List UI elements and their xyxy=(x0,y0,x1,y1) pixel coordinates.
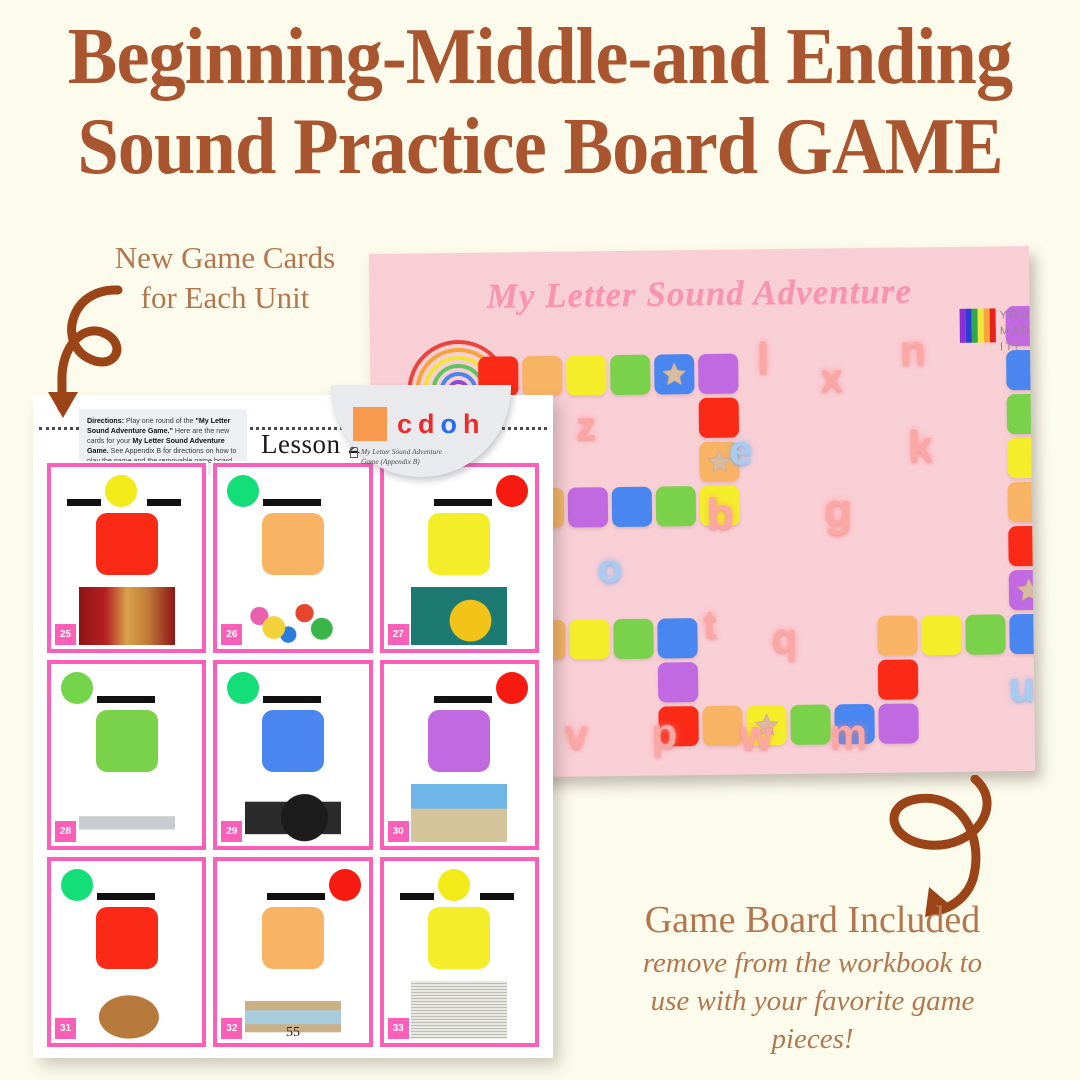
board-letter-z: z xyxy=(576,406,596,446)
board-tile[interactable] xyxy=(522,356,562,396)
color-square xyxy=(428,513,490,575)
game-card[interactable]: 3255 xyxy=(213,857,372,1047)
board-tile[interactable] xyxy=(568,487,608,527)
sound-dot xyxy=(61,672,93,704)
game-card[interactable]: 29 xyxy=(213,660,372,850)
board-letter-p: p xyxy=(651,712,677,754)
game-card[interactable]: 25 xyxy=(47,463,206,653)
orange-square-icon xyxy=(353,407,387,441)
color-square xyxy=(96,513,158,575)
board-tile[interactable] xyxy=(1009,614,1035,654)
game-board-title: My Letter Sound Adventure xyxy=(369,270,1029,318)
sound-position-indicator xyxy=(217,664,368,710)
board-tile[interactable] xyxy=(1007,394,1036,434)
sound-blank xyxy=(480,893,514,900)
sound-position-indicator xyxy=(51,467,202,513)
sound-blank xyxy=(434,696,492,703)
sound-dot xyxy=(329,869,361,901)
game-cards-grid: 25262728293031325533 xyxy=(47,463,539,1047)
card-number: 25 xyxy=(55,624,76,645)
game-card[interactable]: 26 xyxy=(213,463,372,653)
color-square xyxy=(428,710,490,772)
sound-blank xyxy=(97,696,155,703)
sound-position-indicator xyxy=(384,861,535,907)
board-letter-o: o xyxy=(597,549,622,589)
board-tile[interactable] xyxy=(610,355,650,395)
board-tile[interactable] xyxy=(656,486,696,526)
badge-subtitle-line-1: My Letter Sound Adventure xyxy=(361,447,501,457)
game-card[interactable]: 28 xyxy=(47,660,206,850)
color-square xyxy=(262,513,324,575)
child-headphones-photo xyxy=(411,587,507,645)
badge-letters: cdoh xyxy=(397,409,486,440)
sound-dot xyxy=(438,869,470,901)
board-tile[interactable] xyxy=(612,487,652,527)
annotation-right-line-1: remove from the workbook to xyxy=(585,946,1040,980)
annotation-right-heading: Game Board Included xyxy=(585,900,1040,942)
clipboard-icon xyxy=(350,447,358,458)
card-number: 26 xyxy=(221,624,242,645)
game-card[interactable]: 27 xyxy=(380,463,539,653)
board-tile[interactable] xyxy=(657,618,697,658)
color-square xyxy=(262,907,324,969)
badge-letter-c: c xyxy=(397,409,418,439)
board-tile[interactable] xyxy=(877,615,917,655)
sound-position-indicator xyxy=(217,861,368,907)
worksheet-page[interactable]: Directions: Play one round of the "My Le… xyxy=(33,395,553,1058)
board-letter-x: x xyxy=(820,358,843,398)
sound-dot xyxy=(496,475,528,507)
game-card[interactable]: 30 xyxy=(380,660,539,850)
board-letter-m: m xyxy=(829,713,867,755)
board-tile[interactable] xyxy=(790,704,830,744)
board-letter-n: n xyxy=(900,329,926,371)
sound-dot xyxy=(105,475,137,507)
annotation-new-game-cards: New Game Cards for Each Unit xyxy=(80,238,370,317)
sound-dot xyxy=(496,672,528,704)
sound-blank xyxy=(267,893,325,900)
finish-label-line-3: IT! xyxy=(1000,340,1035,356)
game-card[interactable]: 33 xyxy=(380,857,539,1047)
board-tile[interactable] xyxy=(566,355,606,395)
board-tile[interactable] xyxy=(965,614,1005,654)
board-letter-e: e xyxy=(729,429,753,471)
badge-letter-o: o xyxy=(441,409,464,439)
board-tile[interactable] xyxy=(658,662,698,702)
sound-blank xyxy=(434,499,492,506)
board-letter-w: w xyxy=(739,714,772,756)
board-tile[interactable] xyxy=(878,659,918,699)
card-number: 31 xyxy=(55,1018,76,1039)
annotation-right-line-2: use with your favorite game xyxy=(585,984,1040,1018)
sound-position-indicator xyxy=(384,664,535,710)
board-tile[interactable] xyxy=(702,706,742,746)
board-tile[interactable] xyxy=(1008,482,1036,522)
candy-pile-photo xyxy=(245,587,341,645)
sound-position-indicator xyxy=(51,664,202,710)
newspaper-classifieds-photo xyxy=(411,981,507,1039)
finish-stripe xyxy=(990,308,996,342)
board-tile[interactable] xyxy=(1008,526,1035,566)
sound-position-indicator xyxy=(217,467,368,513)
sound-dot xyxy=(227,475,259,507)
sound-dot xyxy=(227,672,259,704)
sound-dot xyxy=(61,869,93,901)
board-letter-u: u xyxy=(1009,666,1035,708)
finish-label-line-1: YOU xyxy=(1000,308,1036,324)
title-line-2: Sound Practice Board GAME xyxy=(38,108,1042,186)
card-number: 28 xyxy=(55,821,76,842)
card-number: 33 xyxy=(388,1018,409,1039)
finish-label: YOU MADE IT! xyxy=(1000,308,1036,356)
page-title: Beginning-Middle-and Ending Sound Practi… xyxy=(0,18,1080,187)
annotation-game-board-included: Game Board Included remove from the work… xyxy=(585,900,1040,1056)
badge-subtitle: My Letter Sound Adventure Game (Appendix… xyxy=(361,447,501,467)
sound-blank xyxy=(263,499,321,506)
board-letter-q: q xyxy=(771,617,797,659)
board-floating-letters: lxnzekibgodtqfuvpwmr xyxy=(369,246,1029,254)
sound-blank xyxy=(147,499,181,506)
board-tile[interactable] xyxy=(698,354,738,394)
sound-blank xyxy=(67,499,101,506)
board-tile[interactable] xyxy=(613,619,653,659)
board-tile[interactable] xyxy=(878,703,918,743)
board-letter-g: g xyxy=(824,486,853,532)
board-tile[interactable] xyxy=(569,619,609,659)
finish-line-stripes xyxy=(960,308,996,342)
color-square xyxy=(262,710,324,772)
badge-subtitle-line-2: Game (Appendix B) xyxy=(361,457,501,467)
badge-letter-d: d xyxy=(418,409,441,439)
board-tile[interactable] xyxy=(1007,438,1035,478)
annotation-left-line-2: for Each Unit xyxy=(80,278,370,318)
bulldog-photo xyxy=(79,981,175,1039)
star-icon xyxy=(661,361,687,387)
card-number: 29 xyxy=(221,821,242,842)
game-card[interactable]: 31 xyxy=(47,857,206,1047)
color-square xyxy=(96,710,158,772)
card-number: 32 xyxy=(221,1018,242,1039)
annotation-right-line-3: pieces! xyxy=(585,1022,1040,1056)
sound-position-indicator xyxy=(51,861,202,907)
board-letter-b: b xyxy=(707,493,734,537)
board-tile[interactable] xyxy=(1009,570,1035,610)
star-icon xyxy=(1016,577,1035,603)
page-number: 55 xyxy=(286,1025,300,1041)
sound-blank xyxy=(263,696,321,703)
board-letter-v: v xyxy=(564,713,588,755)
color-square xyxy=(428,907,490,969)
color-square xyxy=(96,907,158,969)
black-camera-photo xyxy=(245,784,341,842)
arc-de-triomphe-photo xyxy=(411,784,507,842)
sound-blank xyxy=(97,893,155,900)
board-letter-t: t xyxy=(703,605,717,645)
board-path-tiles xyxy=(369,246,1029,254)
title-line-1: Beginning-Middle-and Ending xyxy=(38,18,1042,96)
badge-letter-h: h xyxy=(463,409,486,439)
board-letter-l: l xyxy=(757,337,770,381)
card-number: 27 xyxy=(388,624,409,645)
board-tile[interactable] xyxy=(654,354,694,394)
silver-car-photo xyxy=(79,784,175,842)
board-letter-k: k xyxy=(908,425,933,469)
theater-masks-photo xyxy=(79,587,175,645)
annotation-left-line-1: New Game Cards xyxy=(80,238,370,278)
card-number: 30 xyxy=(388,821,409,842)
sound-blank xyxy=(400,893,434,900)
board-tile[interactable] xyxy=(921,615,961,655)
finish-label-line-2: MADE xyxy=(1000,324,1035,340)
